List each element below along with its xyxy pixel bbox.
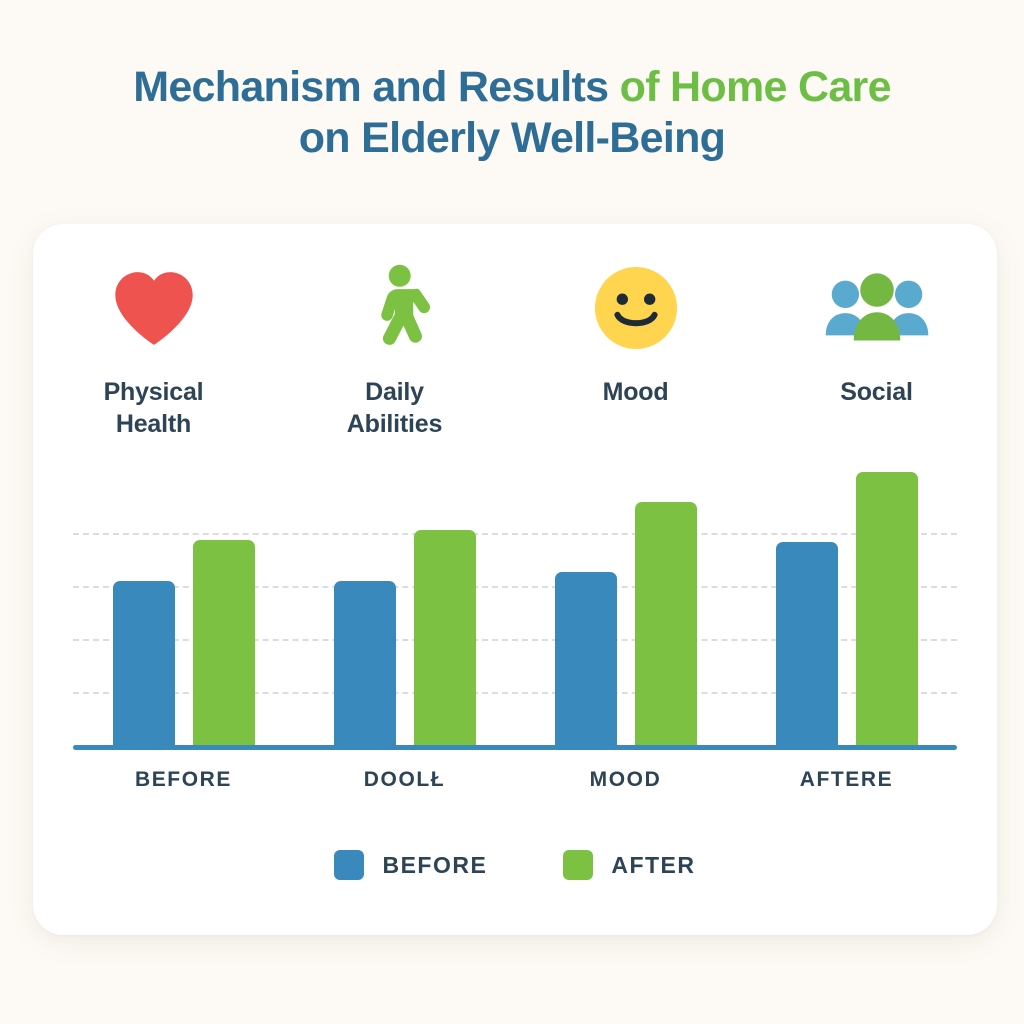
category-label: Mood bbox=[603, 376, 669, 408]
category-daily-abilities: Daily Abilities bbox=[274, 262, 515, 462]
smiley-face-icon bbox=[593, 262, 679, 354]
legend-swatch-after bbox=[563, 850, 593, 880]
x-axis-tick-label: BEFORE bbox=[73, 768, 294, 792]
category-mood: Mood bbox=[515, 262, 756, 462]
category-icon-row: Physical Health Daily Abilities Mood bbox=[33, 262, 997, 462]
legend-label: AFTER bbox=[611, 852, 695, 879]
page-title: Mechanism and Results of Home Care on El… bbox=[0, 62, 1024, 163]
bar-group bbox=[73, 440, 294, 747]
bar-before[interactable] bbox=[776, 542, 838, 747]
bar-after[interactable] bbox=[414, 530, 476, 747]
category-physical-health: Physical Health bbox=[33, 262, 274, 462]
x-axis-tick-label: MOOD bbox=[515, 768, 736, 792]
bar-series-container bbox=[73, 440, 957, 747]
bar-group bbox=[515, 440, 736, 747]
walking-person-icon bbox=[359, 262, 431, 354]
x-axis-tick-label: AFTERE bbox=[736, 768, 957, 792]
title-text-accent: of Home Care bbox=[620, 63, 891, 111]
category-social: Social bbox=[756, 262, 997, 462]
bar-chart-plot bbox=[73, 440, 957, 750]
bar-before[interactable] bbox=[334, 581, 396, 747]
bar-after[interactable] bbox=[635, 502, 697, 747]
category-label: Social bbox=[840, 376, 912, 408]
x-axis-tick-label: DOOLŁ bbox=[294, 768, 515, 792]
bar-after[interactable] bbox=[856, 472, 918, 747]
bar-group bbox=[736, 440, 957, 747]
title-line-1: Mechanism and Results of Home Care bbox=[0, 62, 1024, 113]
title-text-primary: Mechanism and Results bbox=[133, 63, 619, 111]
title-line-2: on Elderly Well-Being bbox=[0, 113, 1024, 164]
bar-before[interactable] bbox=[555, 572, 617, 747]
chart-legend: BEFORE AFTER bbox=[33, 850, 997, 880]
bar-before[interactable] bbox=[113, 581, 175, 747]
legend-item-before[interactable]: BEFORE bbox=[334, 850, 487, 880]
category-label: Physical Health bbox=[104, 376, 204, 440]
people-group-icon bbox=[824, 262, 930, 354]
bar-group bbox=[294, 440, 515, 747]
heart-icon bbox=[111, 262, 197, 354]
legend-item-after[interactable]: AFTER bbox=[563, 850, 695, 880]
bar-after[interactable] bbox=[193, 540, 255, 747]
category-label: Daily Abilities bbox=[347, 376, 442, 440]
x-axis-line bbox=[73, 745, 957, 750]
x-axis-labels: BEFORE DOOLŁ MOOD AFTERE bbox=[73, 768, 957, 792]
legend-label: BEFORE bbox=[382, 852, 487, 879]
legend-swatch-before bbox=[334, 850, 364, 880]
